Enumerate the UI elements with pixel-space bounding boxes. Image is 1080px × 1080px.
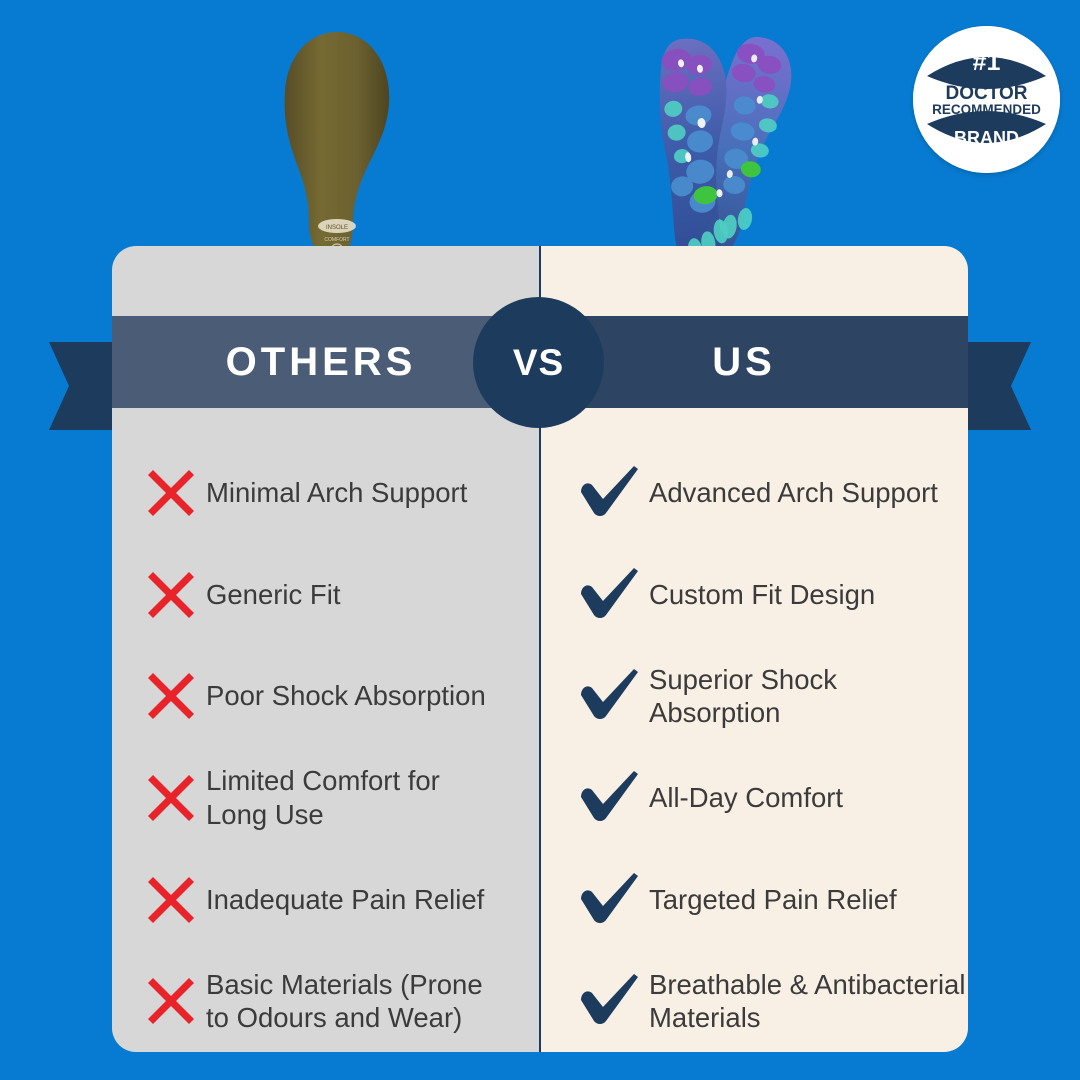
list-item-label: Minimal Arch Support bbox=[206, 476, 467, 510]
check-icon bbox=[571, 770, 649, 826]
vs-badge: VS bbox=[473, 297, 604, 428]
list-item: Breathable & Antibacterial Materials bbox=[571, 950, 968, 1052]
badge-line3-text: BRAND bbox=[954, 128, 1019, 148]
us-feature-list: Advanced Arch Support Custom Fit Design … bbox=[541, 408, 968, 1052]
list-item: Limited Comfort for Long Use bbox=[136, 747, 539, 849]
comparison-infographic: INSOLE COMFORT L bbox=[0, 0, 1080, 1080]
product-image-us bbox=[640, 26, 830, 276]
doctor-recommended-badge: #1 DOCTOR RECOMMENDED BRAND bbox=[913, 26, 1060, 173]
list-item: Inadequate Pain Relief bbox=[136, 849, 539, 951]
list-item: Basic Materials (Prone to Odours and Wea… bbox=[136, 950, 539, 1052]
check-icon bbox=[571, 668, 649, 724]
cross-icon bbox=[136, 568, 206, 622]
list-item-label: Advanced Arch Support bbox=[649, 476, 938, 510]
list-item: Poor Shock Absorption bbox=[136, 645, 539, 747]
list-item-label: Custom Fit Design bbox=[649, 578, 875, 612]
others-feature-list: Minimal Arch Support Generic Fit Poor Sh… bbox=[112, 408, 539, 1052]
list-item: Targeted Pain Relief bbox=[571, 849, 968, 951]
ribbon-tail-right bbox=[967, 342, 1031, 430]
cross-icon bbox=[136, 771, 206, 825]
list-item: Superior Shock Absorption bbox=[571, 645, 968, 747]
list-item-label: Limited Comfort for Long Use bbox=[206, 764, 506, 831]
list-item: Generic Fit bbox=[136, 544, 539, 646]
badge-line1-text: DOCTOR bbox=[946, 83, 1028, 104]
svg-text:INSOLE: INSOLE bbox=[326, 225, 348, 231]
list-item: Custom Fit Design bbox=[571, 544, 968, 646]
list-item-label: Breathable & Antibacterial Materials bbox=[649, 968, 968, 1035]
banner-us: US bbox=[540, 316, 968, 408]
vs-label: VS bbox=[513, 342, 564, 384]
list-item-label: Superior Shock Absorption bbox=[649, 663, 968, 730]
list-item: All-Day Comfort bbox=[571, 747, 968, 849]
list-item-label: All-Day Comfort bbox=[649, 781, 843, 815]
check-icon bbox=[571, 872, 649, 928]
ribbon-tail-left bbox=[49, 342, 113, 430]
list-item-label: Generic Fit bbox=[206, 578, 340, 612]
product-image-others: INSOLE COMFORT L bbox=[277, 30, 397, 260]
cross-icon bbox=[136, 669, 206, 723]
check-icon bbox=[571, 567, 649, 623]
list-item-label: Poor Shock Absorption bbox=[206, 679, 486, 713]
list-item: Minimal Arch Support bbox=[136, 442, 539, 544]
banner-label-us: US bbox=[712, 342, 796, 382]
list-item-label: Basic Materials (Prone to Odours and Wea… bbox=[206, 968, 506, 1035]
cross-icon bbox=[136, 974, 206, 1028]
list-item: Advanced Arch Support bbox=[571, 442, 968, 544]
cross-icon bbox=[136, 873, 206, 927]
banner-label-others: OTHERS bbox=[226, 342, 427, 382]
badge-line2-text: RECOMMENDED bbox=[932, 102, 1041, 117]
list-item-label: Inadequate Pain Relief bbox=[206, 883, 484, 917]
badge-rank-text: #1 bbox=[973, 48, 1001, 76]
check-icon bbox=[571, 465, 649, 521]
svg-text:COMFORT: COMFORT bbox=[324, 237, 349, 243]
check-icon bbox=[571, 973, 649, 1029]
cross-icon bbox=[136, 466, 206, 520]
list-item-label: Targeted Pain Relief bbox=[649, 883, 897, 917]
